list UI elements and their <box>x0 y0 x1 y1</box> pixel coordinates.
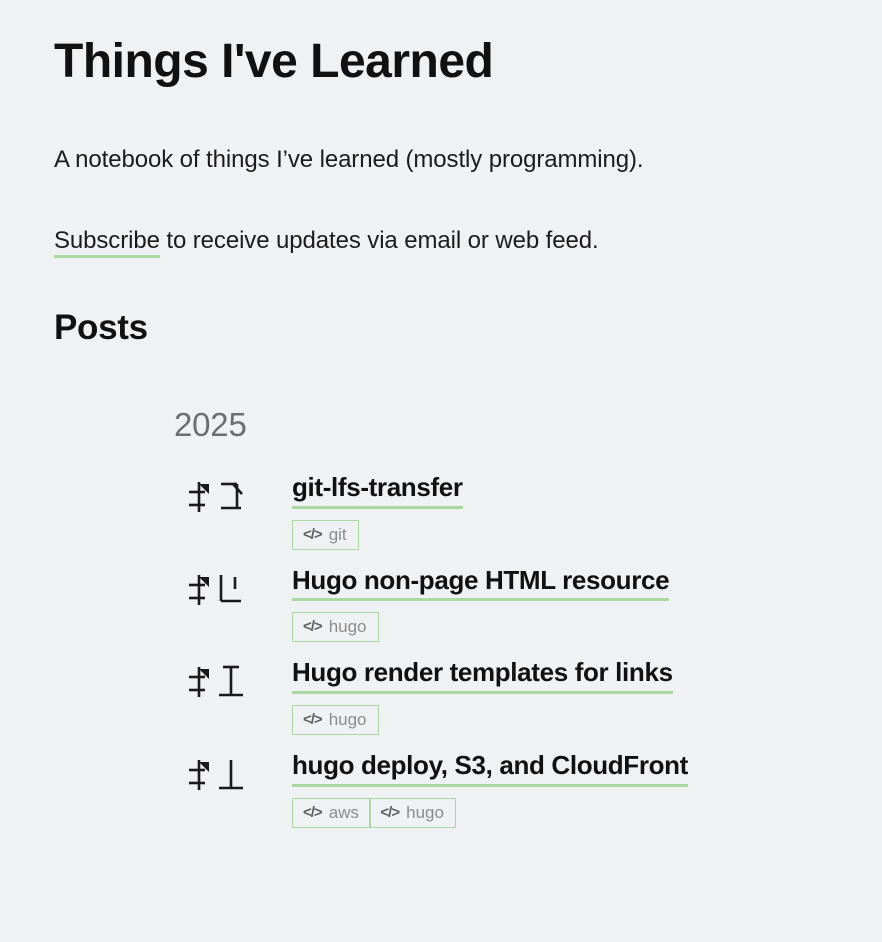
tag-row: </> git <box>292 520 842 550</box>
list-item: Hugo render templates for links </> hugo <box>54 663 842 735</box>
tag-chip[interactable]: </> aws <box>292 798 371 828</box>
post-list: git-lfs-transfer </> git <box>54 444 842 828</box>
post-date-glyphs-icon <box>185 571 251 605</box>
code-icon: </> <box>303 527 322 542</box>
subscribe-rest-text: to receive updates via email or web feed… <box>160 227 599 254</box>
tag-row: </> hugo <box>292 705 842 735</box>
tag-chip[interactable]: </> git <box>292 520 359 550</box>
list-item: git-lfs-transfer </> git <box>54 478 842 550</box>
post-body: hugo deploy, S3, and CloudFront </> aws … <box>251 750 842 828</box>
code-icon: </> <box>303 712 322 727</box>
tag-label: hugo <box>329 618 367 635</box>
site-intro-text: A notebook of things I’ve learned (mostl… <box>54 91 842 175</box>
code-icon: </> <box>303 619 322 634</box>
year-group-header: 2025 <box>54 348 842 444</box>
post-body: git-lfs-transfer </> git <box>251 472 842 550</box>
post-title-link[interactable]: hugo deploy, S3, and CloudFront <box>292 750 688 787</box>
posts-heading: Posts <box>54 256 842 348</box>
subscribe-line: Subscribe to receive updates via email o… <box>54 175 842 256</box>
page-title: Things I've Learned <box>54 0 842 91</box>
tag-label: hugo <box>329 711 367 728</box>
post-date-glyphs-icon <box>185 663 251 697</box>
tag-label: aws <box>329 804 359 821</box>
list-item: Hugo non-page HTML resource </> hugo <box>54 571 842 643</box>
tag-row: </> hugo <box>292 612 842 642</box>
post-title-link[interactable]: Hugo render templates for links <box>292 657 673 694</box>
code-icon: </> <box>380 805 399 820</box>
post-body: Hugo render templates for links </> hugo <box>251 657 842 735</box>
tag-row: </> aws </> hugo <box>292 798 842 828</box>
post-title-link[interactable]: git-lfs-transfer <box>292 472 463 509</box>
tag-chip[interactable]: </> hugo <box>292 612 379 642</box>
year-label: 2025 <box>174 406 247 443</box>
post-title-link[interactable]: Hugo non-page HTML resource <box>292 565 669 602</box>
tag-label: git <box>329 526 347 543</box>
tag-chip[interactable]: </> hugo <box>292 705 379 735</box>
page-root: Things I've Learned A notebook of things… <box>0 0 882 942</box>
post-body: Hugo non-page HTML resource </> hugo <box>251 565 842 643</box>
subscribe-link[interactable]: Subscribe <box>54 227 160 258</box>
code-icon: </> <box>303 805 322 820</box>
tag-label: hugo <box>406 804 444 821</box>
post-date-glyphs-icon <box>185 478 251 512</box>
list-item: hugo deploy, S3, and CloudFront </> aws … <box>54 756 842 828</box>
post-date-glyphs-icon <box>185 756 251 790</box>
tag-chip[interactable]: </> hugo <box>369 798 456 828</box>
